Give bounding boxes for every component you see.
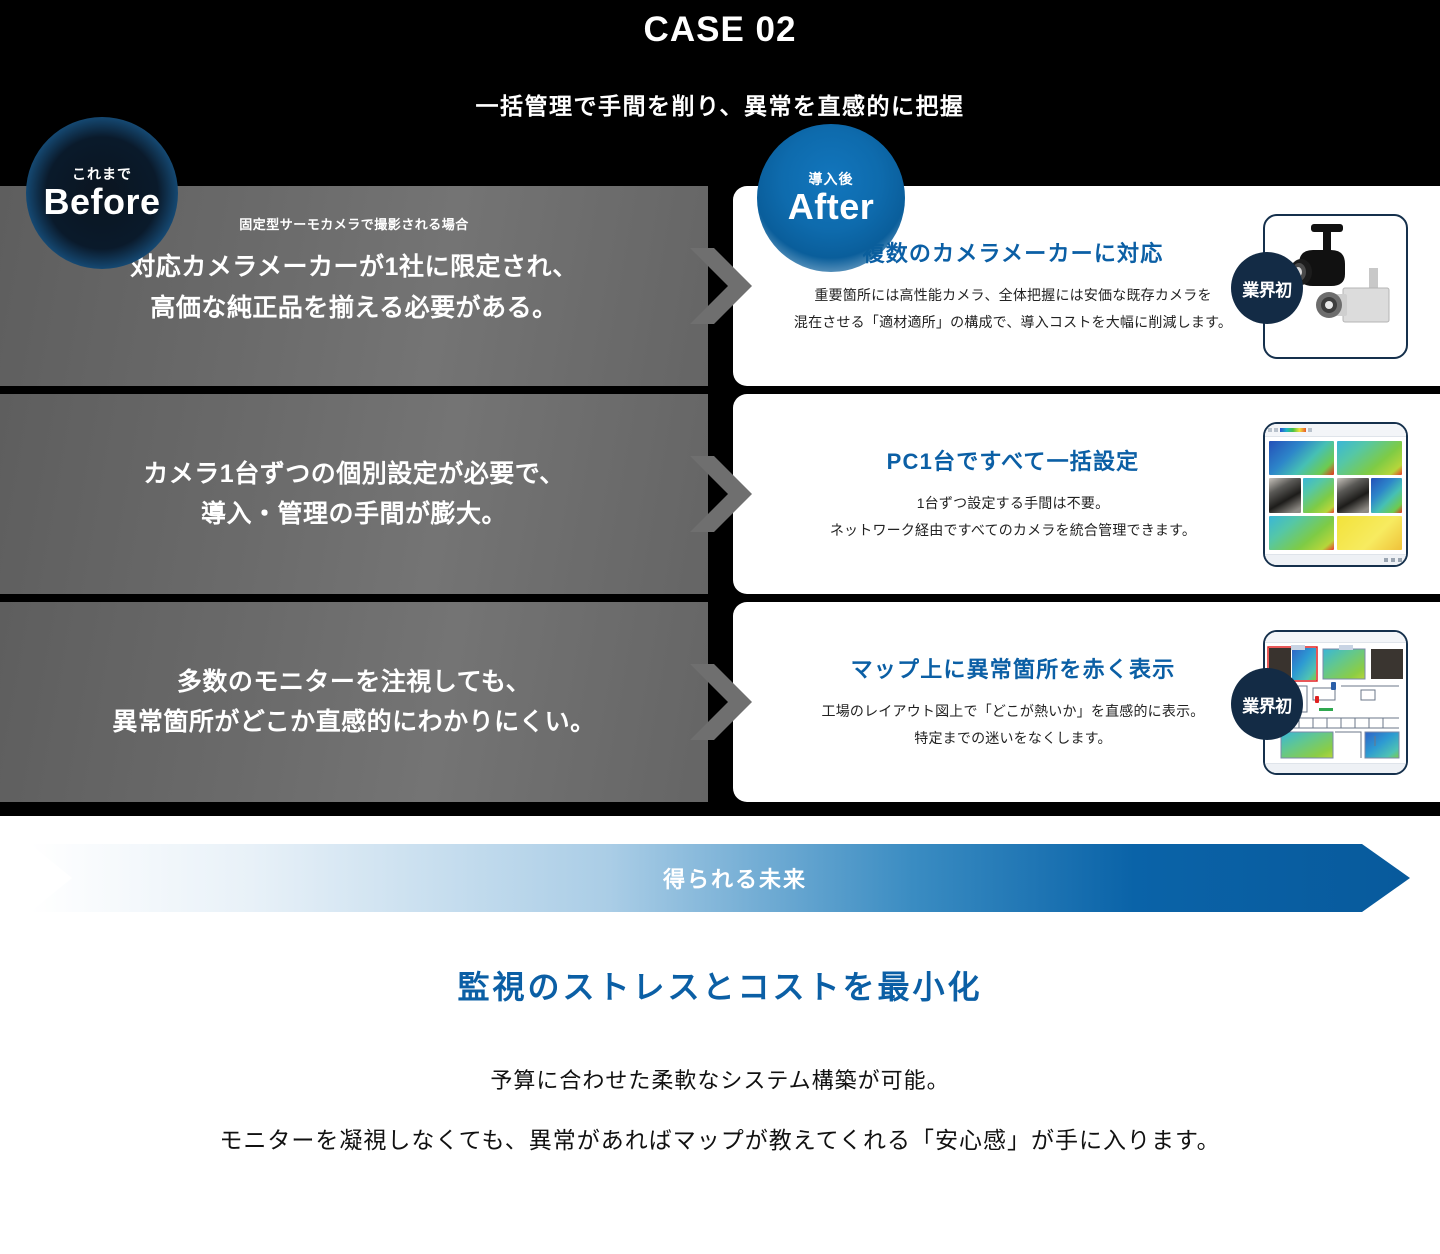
after-desc-line-2: 特定までの迷いをなくします。	[822, 725, 1205, 752]
after-desc-line-2: ネットワーク経由ですべてのカメラを統合管理できます。	[830, 517, 1196, 544]
after-description: 1台ずつ設定する手間は不要。 ネットワーク経由ですべてのカメラを統合管理できます…	[830, 490, 1196, 545]
status-dot-icon	[1384, 558, 1388, 562]
toolbar-dot-icon	[1268, 428, 1272, 432]
thermal-cell	[1371, 478, 1403, 512]
after-title: PC1台ですべて一括設定	[887, 444, 1140, 476]
after-desc-line-1: 重要箇所には高性能カメラ、全体把握には安価な既存カメラを	[794, 282, 1232, 309]
case-number-title: CASE 02	[0, 10, 1440, 50]
before-panel: カメラ1台ずつの個別設定が必要で、 導入・管理の手間が膨大。	[0, 394, 708, 594]
comparison-row: 固定型サーモカメラで撮影される場合 対応カメラメーカーが1社に限定され、 高価な…	[0, 186, 1440, 386]
map-statusbar	[1265, 763, 1406, 773]
after-title: 複数のカメラメーカーに対応	[863, 236, 1164, 268]
outcome-line-1: 予算に合わせた柔軟なシステム構築が可能。	[0, 1063, 1440, 1095]
thermal-cell	[1269, 441, 1334, 475]
thermal-dashboard	[1265, 424, 1406, 565]
thermal-cell-pair	[1337, 478, 1402, 512]
before-line-2: 高価な純正品を揃える必要がある。	[150, 288, 557, 329]
chevron-right-icon	[690, 456, 760, 532]
after-thumbnail	[1263, 422, 1408, 567]
thermal-cell-pair	[1269, 478, 1334, 512]
comparison-row: カメラ1台ずつの個別設定が必要で、 導入・管理の手間が膨大。 PC1台ですべて一…	[0, 394, 1440, 594]
after-panel: マップ上に異常箇所を赤く表示 工場のレイアウト図上で「どこが熱いか」を直感的に表…	[733, 602, 1440, 802]
future-banner-label: 得られる未来	[663, 862, 807, 894]
after-thumbnail: 業界初	[1263, 630, 1408, 775]
after-desc-line-2: 混在させる「適材適所」の構成で、導入コストを大幅に削減します。	[794, 309, 1232, 336]
map-toolbar	[1265, 632, 1406, 643]
thermal-colorbar	[1280, 428, 1306, 432]
thermal-cell	[1269, 478, 1301, 512]
thermal-cell	[1337, 441, 1402, 475]
before-line-1: カメラ1台ずつの個別設定が必要で、	[143, 454, 564, 495]
before-badge: これまで Before	[26, 117, 178, 269]
dashboard-statusbar	[1265, 554, 1406, 565]
toolbar-dot-icon	[1274, 428, 1278, 432]
after-text-block: PC1台ですべて一括設定 1台ずつ設定する手間は不要。 ネットワーク経由ですべて…	[733, 394, 1263, 594]
after-description: 工場のレイアウト図上で「どこが熱いか」を直感的に表示。 特定までの迷いをなくしま…	[822, 698, 1205, 753]
thermal-dashboard-thumbnail	[1263, 422, 1408, 567]
comparison-row: 多数のモニターを注視しても、 異常箇所がどこか直感的にわかりにくい。 マップ上に…	[0, 602, 1440, 802]
before-line-1: 対応カメラメーカーが1社に限定され、	[130, 247, 577, 288]
after-title: マップ上に異常箇所を赤く表示	[851, 652, 1176, 684]
toolbar-dot-icon	[1308, 428, 1312, 432]
status-dot-icon	[1398, 558, 1402, 562]
before-badge-label: Before	[43, 184, 160, 220]
before-line-2: 異常箇所がどこか直感的にわかりにくい。	[112, 702, 595, 743]
outcome-line-2: モニターを凝視しなくても、異常があればマップが教えてくれる「安心感」が手に入りま…	[0, 1121, 1440, 1155]
thermal-cell	[1337, 516, 1402, 550]
thermal-cell	[1269, 516, 1334, 550]
future-banner: 得られる未来	[30, 844, 1410, 912]
before-panel: 多数のモニターを注視しても、 異常箇所がどこか直感的にわかりにくい。	[0, 602, 708, 802]
before-badge-kicker: これまで	[72, 167, 132, 181]
before-line-1: 多数のモニターを注視しても、	[177, 662, 531, 703]
after-desc-line-1: 工場のレイアウト図上で「どこが熱いか」を直感的に表示。	[822, 698, 1205, 725]
dashboard-toolbar	[1265, 424, 1406, 437]
chevron-right-icon	[690, 248, 760, 324]
after-badge-kicker: 導入後	[809, 172, 854, 186]
status-dot-icon	[1391, 558, 1395, 562]
outcome-title: 監視のストレスとコストを最小化	[0, 962, 1440, 1008]
after-badge: 導入後 After	[757, 124, 905, 272]
case-study-page: CASE 02 一括管理で手間を削り、異常を直感的に把握 これまで Before…	[0, 0, 1440, 1254]
before-kicker: 固定型サーモカメラで撮影される場合	[239, 214, 469, 233]
case-subtitle: 一括管理で手間を削り、異常を直感的に把握	[0, 87, 1440, 121]
after-thumbnail: 業界初	[1263, 214, 1408, 359]
after-text-block: マップ上に異常箇所を赤く表示 工場のレイアウト図上で「どこが熱いか」を直感的に表…	[733, 602, 1263, 802]
after-description: 重要箇所には高性能カメラ、全体把握には安価な既存カメラを 混在させる「適材適所」…	[794, 282, 1232, 337]
thermal-grid	[1265, 437, 1406, 554]
after-desc-line-1: 1台ずつ設定する手間は不要。	[830, 490, 1196, 517]
comparison-rows: 固定型サーモカメラで撮影される場合 対応カメラメーカーが1社に限定され、 高価な…	[0, 186, 1440, 810]
thermal-cell	[1337, 478, 1369, 512]
chevron-right-icon	[690, 664, 760, 740]
after-panel: PC1台ですべて一括設定 1台ずつ設定する手間は不要。 ネットワーク経由ですべて…	[733, 394, 1440, 594]
industry-first-badge: 業界初	[1231, 252, 1303, 324]
after-badge-label: After	[788, 189, 875, 225]
thermal-cell	[1303, 478, 1335, 512]
before-after-section: CASE 02 一括管理で手間を削り、異常を直感的に把握 これまで Before…	[0, 0, 1440, 816]
before-line-2: 導入・管理の手間が膨大。	[201, 494, 507, 535]
industry-first-badge: 業界初	[1231, 668, 1303, 740]
